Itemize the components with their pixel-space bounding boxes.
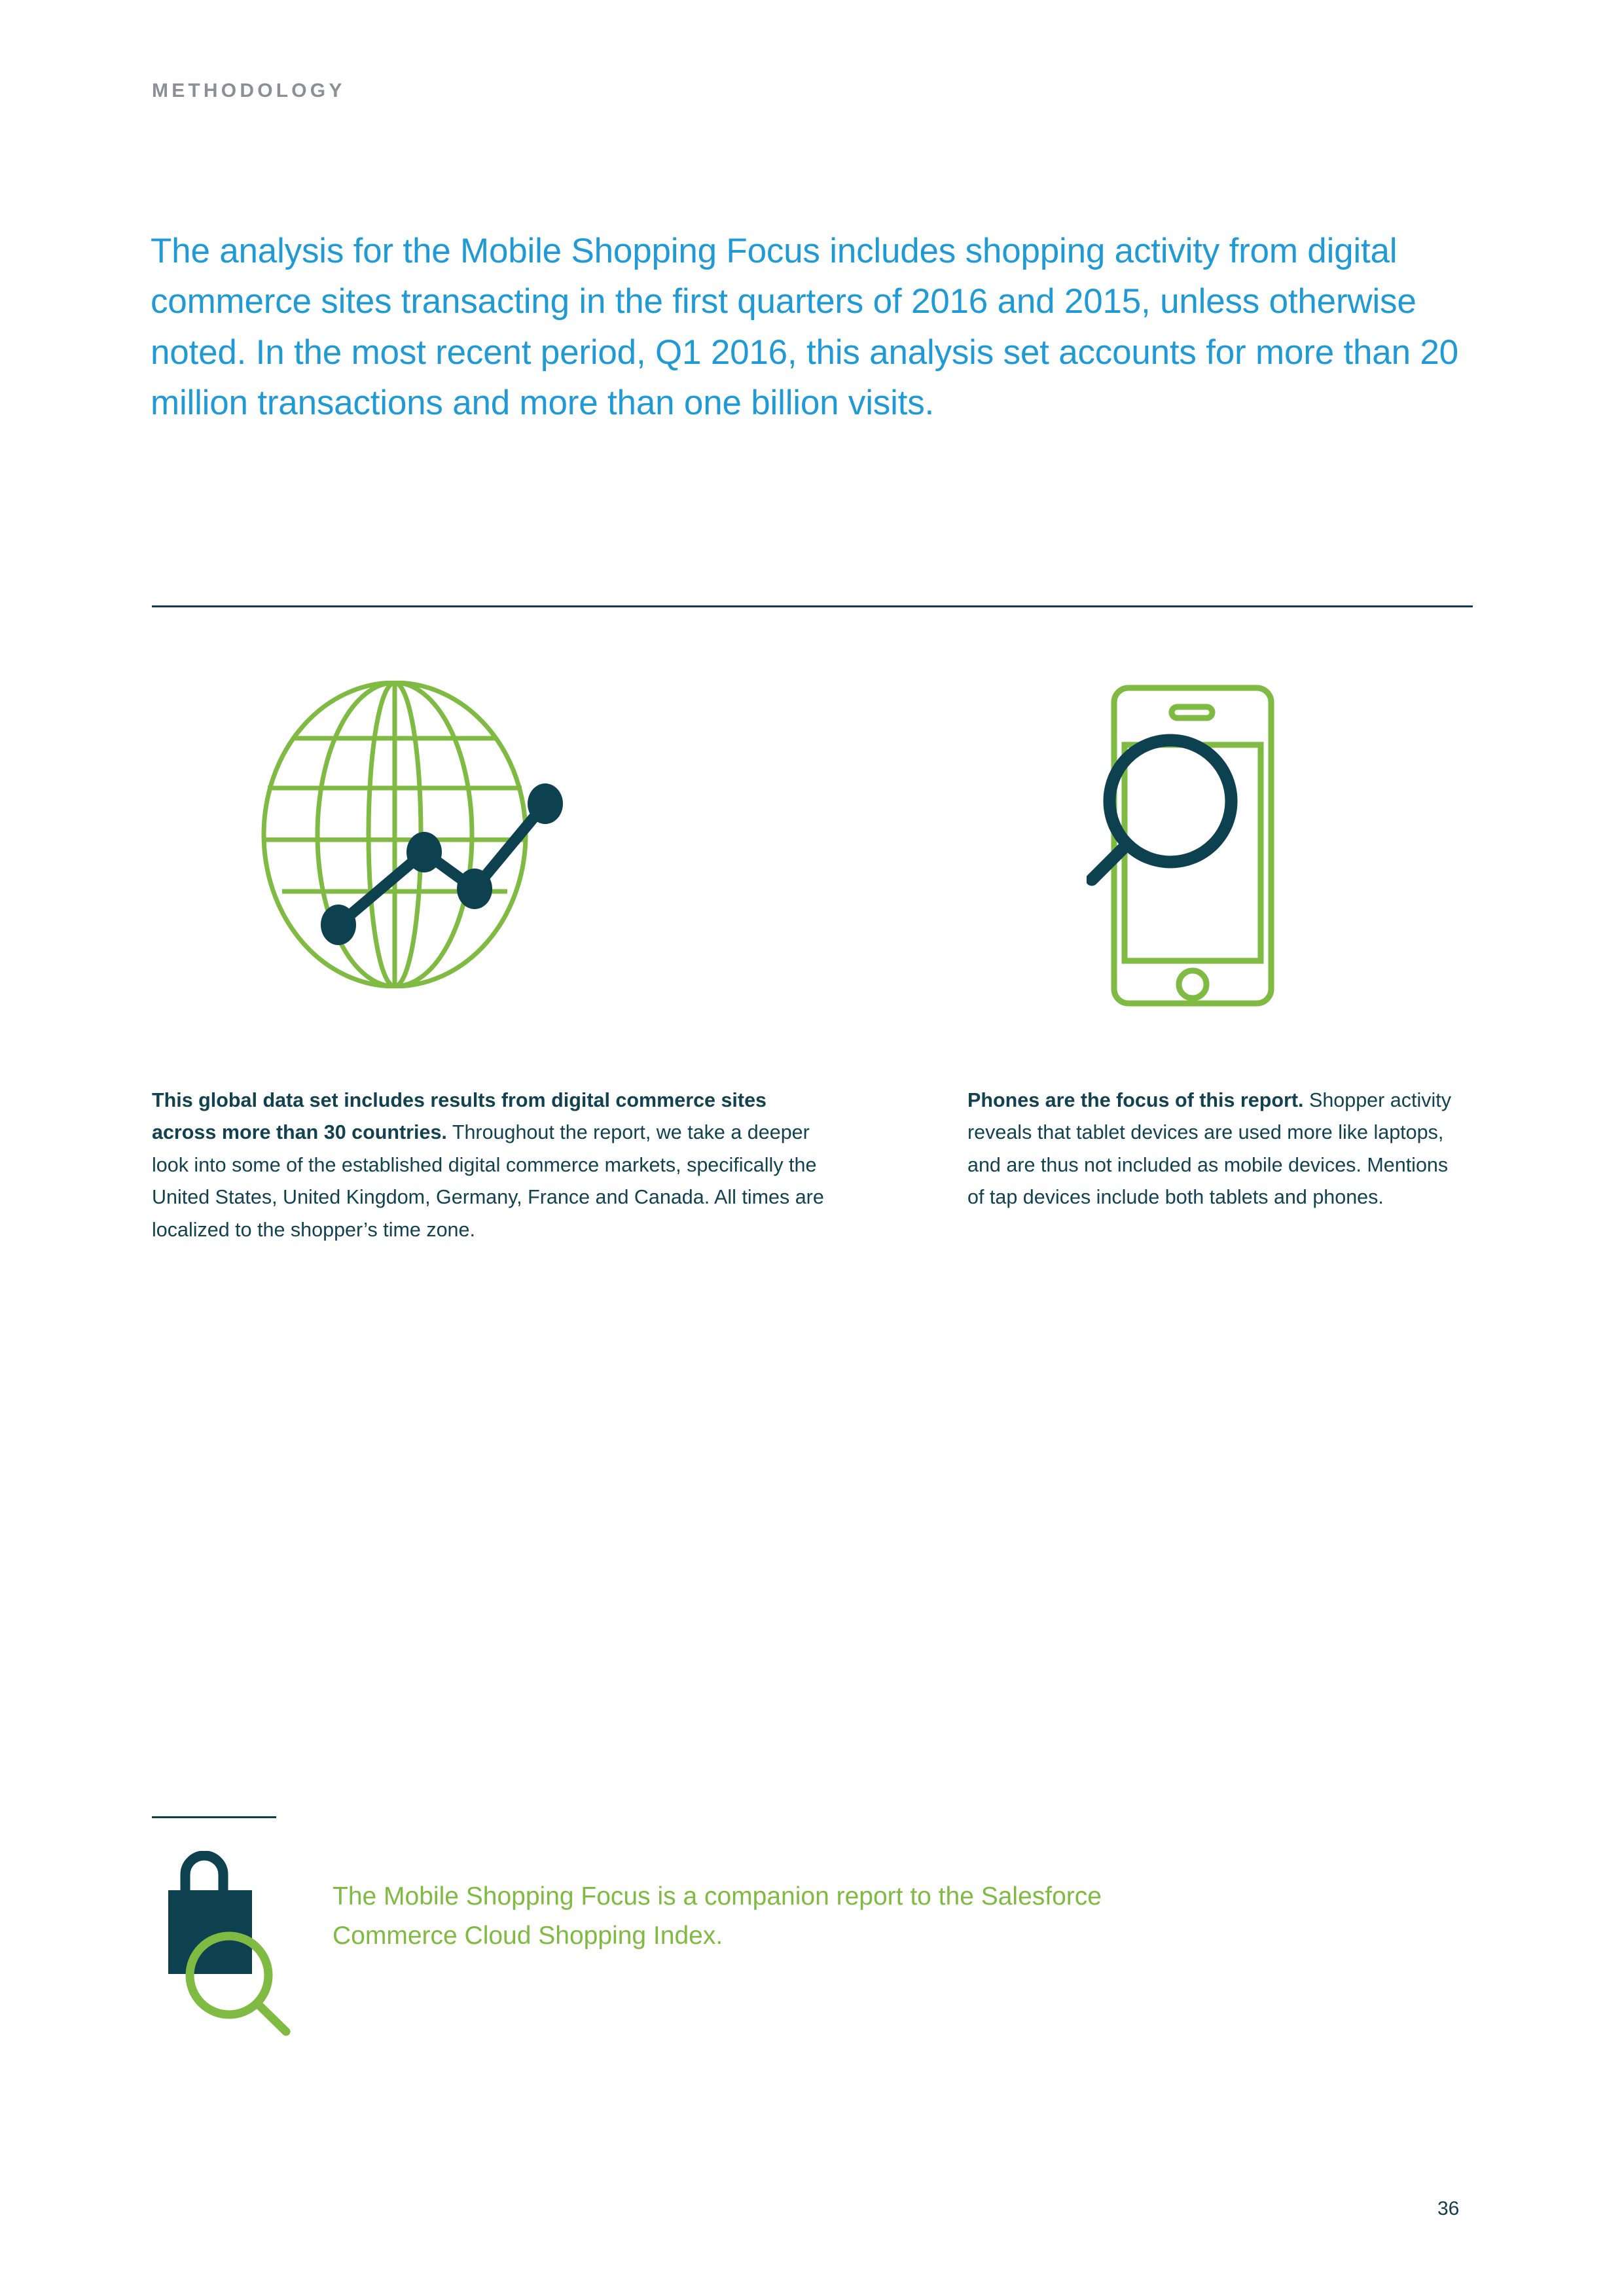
section-divider <box>152 605 1473 607</box>
column-left-text: This global data set includes results fr… <box>152 1085 826 1246</box>
lead-paragraph: The analysis for the Mobile Shopping Foc… <box>151 226 1479 429</box>
callout-text: The Mobile Shopping Focus is a companion… <box>333 1877 1197 1956</box>
column-right-lead-sentence: Phones are the focus of this report. <box>967 1089 1304 1111</box>
callout-divider <box>152 1816 276 1818</box>
page-kicker: METHODOLOGY <box>152 80 346 102</box>
page-canvas: METHODOLOGY The analysis for the Mobile … <box>0 0 1624 2296</box>
phone-magnifier-icon <box>1087 682 1276 1009</box>
column-right-text: Phones are the focus of this report. Sho… <box>967 1085 1465 1214</box>
page-number: 36 <box>1437 2198 1459 2220</box>
globe-chart-icon <box>259 681 691 988</box>
shopping-bag-magnifier-icon <box>160 1851 321 2037</box>
